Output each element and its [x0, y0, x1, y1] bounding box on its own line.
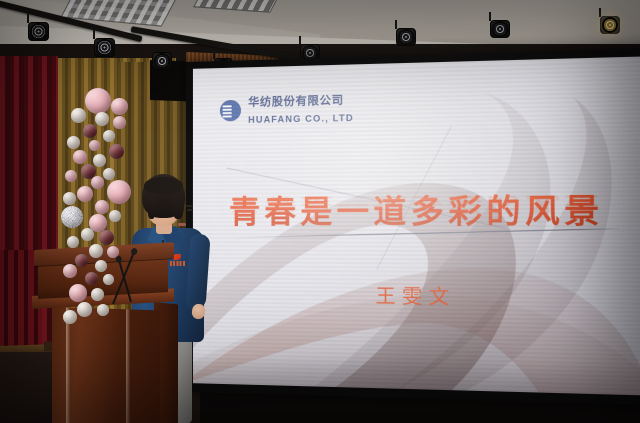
company-logo-block: 华纺股份有限公司 HUAFANG CO., LTD [219, 91, 354, 128]
company-name-en: HUAFANG CO., LTD [248, 113, 354, 125]
balloon [67, 136, 80, 149]
balloon [71, 108, 86, 123]
balloon [81, 228, 94, 241]
balloon [111, 98, 128, 115]
podium-front-panel [52, 307, 160, 423]
balloon [109, 144, 124, 159]
balloon [93, 154, 106, 167]
presentation-photo-scene: 华纺股份有限公司 HUAFANG CO., LTD [0, 0, 640, 423]
spot-6-lens [398, 29, 414, 45]
balloon [107, 180, 131, 204]
speaker-right-arm [185, 233, 210, 310]
balloon [67, 236, 79, 248]
balloon [95, 200, 109, 214]
spot-3-lens [154, 53, 170, 69]
slide-title: 青春是一道多彩的风景 [229, 184, 604, 232]
balloon [63, 264, 77, 278]
balloon [107, 246, 119, 258]
spot-8-lens [602, 17, 618, 33]
projection-screen: 华纺股份有限公司 HUAFANG CO., LTD [193, 56, 640, 396]
balloon [103, 130, 115, 142]
company-name-cn: 华纺股份有限公司 [248, 93, 344, 108]
spot-5-yoke [299, 36, 301, 45]
recessed-grid-light-2 [193, 0, 283, 13]
speaker-eye-right [187, 209, 192, 211]
balloon [103, 168, 115, 180]
speaker-hair-fringe [144, 177, 183, 194]
balloon [61, 206, 83, 228]
slide-presenter-name: 王雯文 [375, 281, 455, 310]
spot-3-yoke [151, 44, 153, 53]
balloon [85, 272, 98, 285]
balloon [83, 124, 97, 138]
balloon [99, 230, 114, 245]
speaker-eyebrow-right [186, 205, 193, 207]
balloon [73, 150, 87, 164]
balloon [95, 112, 109, 126]
presentation-slide: 华纺股份有限公司 HUAFANG CO., LTD [193, 56, 640, 396]
spot-7-yoke [489, 12, 491, 21]
balloon [77, 186, 93, 202]
balloon [103, 274, 114, 285]
balloon [63, 310, 77, 324]
spot-6-yoke [395, 20, 397, 29]
spot-2-lens [96, 39, 113, 56]
balloon [63, 192, 76, 205]
balloon [75, 254, 88, 267]
balloon [91, 288, 104, 301]
balloon [91, 176, 104, 189]
balloon [97, 304, 109, 316]
spot-2-yoke [93, 30, 95, 39]
balloon [77, 302, 92, 317]
company-logo-text: 华纺股份有限公司 HUAFANG CO., LTD [248, 91, 354, 127]
balloon [85, 88, 111, 114]
balloon [89, 140, 100, 151]
spot-4-yoke [213, 50, 215, 59]
balloon [65, 170, 77, 182]
balloon [69, 284, 87, 302]
balloon [113, 116, 126, 129]
spot-1-lens [30, 23, 47, 40]
spot-1-yoke [27, 14, 29, 23]
balloon [95, 260, 107, 272]
spot-7-lens [492, 21, 508, 37]
huafang-company-logo-icon [219, 99, 242, 123]
speaker-mouth [178, 223, 186, 226]
balloon [109, 210, 121, 222]
projection-screen-frame: 华纺股份有限公司 HUAFANG CO., LTD [186, 48, 640, 406]
spot-8-yoke [599, 8, 601, 17]
balloon [89, 244, 103, 258]
